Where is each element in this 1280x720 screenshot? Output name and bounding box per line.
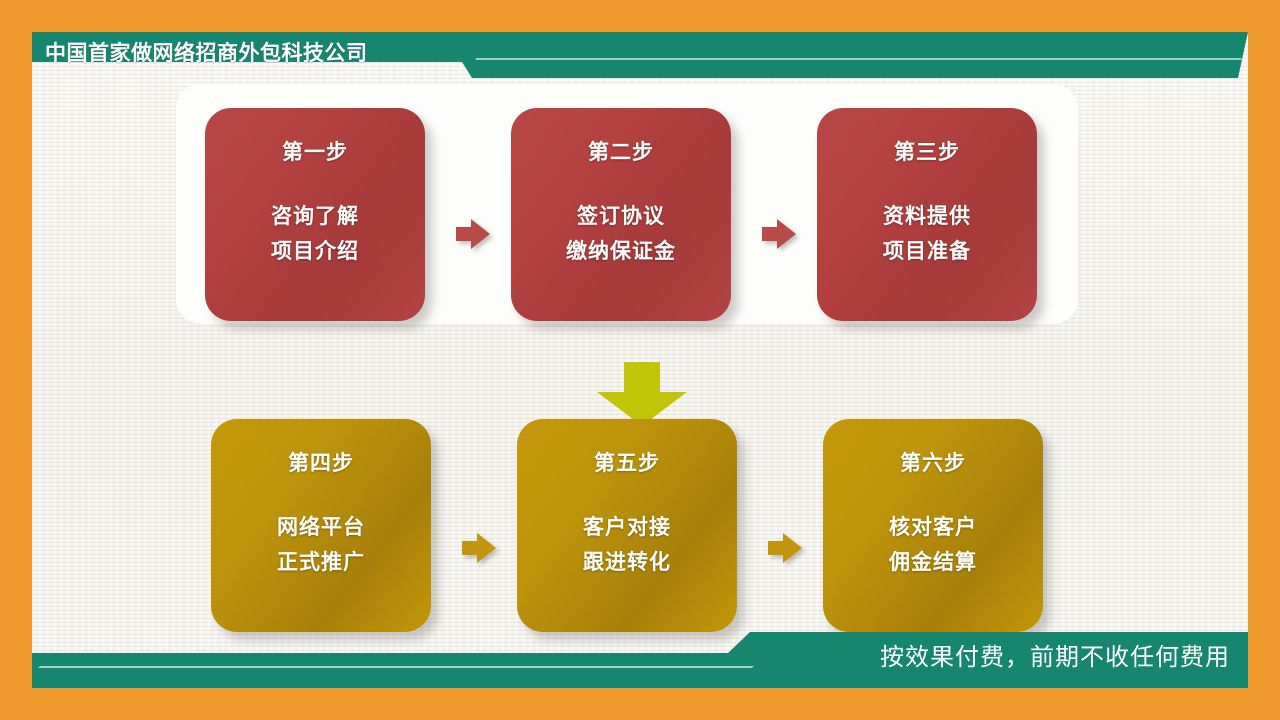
step-card-6-title: 第六步 bbox=[900, 447, 966, 477]
step-card-3-title: 第三步 bbox=[894, 136, 960, 166]
page-title: 中国首家做网络招商外包科技公司 bbox=[45, 32, 368, 78]
step-card-2-title: 第二步 bbox=[588, 136, 654, 166]
step-card-4-line2: 正式推广 bbox=[277, 546, 365, 581]
step-card-5-title: 第五步 bbox=[594, 447, 660, 477]
step-card-6[interactable]: 第六步 核对客户 佣金结算 bbox=[823, 419, 1043, 632]
step-card-2-line1: 签订协议 bbox=[566, 200, 676, 235]
step-card-1-line2: 项目介绍 bbox=[271, 235, 359, 270]
slide-canvas: 中国首家做网络招商外包科技公司 第一步 咨询了解 项目介绍 第二步 签订协议 缴… bbox=[32, 32, 1248, 688]
arrow-right-icon-step1-to-step2 bbox=[456, 219, 490, 249]
step-card-4-body: 网络平台 正式推广 bbox=[277, 511, 365, 580]
step-card-4-line1: 网络平台 bbox=[277, 511, 365, 546]
footer-band-hairline bbox=[38, 666, 754, 668]
step-card-1[interactable]: 第一步 咨询了解 项目介绍 bbox=[205, 108, 425, 321]
step-card-2-body: 签订协议 缴纳保证金 bbox=[566, 200, 676, 269]
arrow-head bbox=[777, 219, 796, 249]
step-card-1-line1: 咨询了解 bbox=[271, 200, 359, 235]
step-card-3-body: 资料提供 项目准备 bbox=[883, 200, 971, 269]
step-card-5[interactable]: 第五步 客户对接 跟进转化 bbox=[517, 419, 737, 632]
arrow-head bbox=[471, 219, 490, 249]
arrow-right-icon-step2-to-step3 bbox=[762, 219, 796, 249]
arrow-right-icon-step5-to-step6 bbox=[768, 533, 802, 563]
step-card-5-line2: 跟进转化 bbox=[583, 546, 671, 581]
step-card-6-line1: 核对客户 bbox=[889, 511, 977, 546]
step-card-2[interactable]: 第二步 签订协议 缴纳保证金 bbox=[511, 108, 731, 321]
header-band-hairline bbox=[475, 58, 1242, 60]
arrow-shaft bbox=[624, 362, 660, 394]
arrow-right-icon-step4-to-step5 bbox=[462, 533, 496, 563]
step-card-4[interactable]: 第四步 网络平台 正式推广 bbox=[211, 419, 431, 632]
step-card-5-line1: 客户对接 bbox=[583, 511, 671, 546]
step-card-4-title: 第四步 bbox=[288, 447, 354, 477]
arrow-head bbox=[783, 533, 802, 563]
step-card-3-line1: 资料提供 bbox=[883, 200, 971, 235]
arrow-down-icon-row1-to-row2 bbox=[597, 362, 687, 426]
step-card-1-body: 咨询了解 项目介绍 bbox=[271, 200, 359, 269]
step-card-6-line2: 佣金结算 bbox=[889, 546, 977, 581]
step-card-3[interactable]: 第三步 资料提供 项目准备 bbox=[817, 108, 1037, 321]
step-card-3-line2: 项目准备 bbox=[883, 235, 971, 270]
arrow-head bbox=[477, 533, 496, 563]
step-card-2-line2: 缴纳保证金 bbox=[566, 235, 676, 270]
footer-tagline: 按效果付费，前期不收任何费用 bbox=[880, 632, 1230, 688]
step-card-5-body: 客户对接 跟进转化 bbox=[583, 511, 671, 580]
step-card-6-body: 核对客户 佣金结算 bbox=[889, 511, 977, 580]
step-card-1-title: 第一步 bbox=[282, 136, 348, 166]
